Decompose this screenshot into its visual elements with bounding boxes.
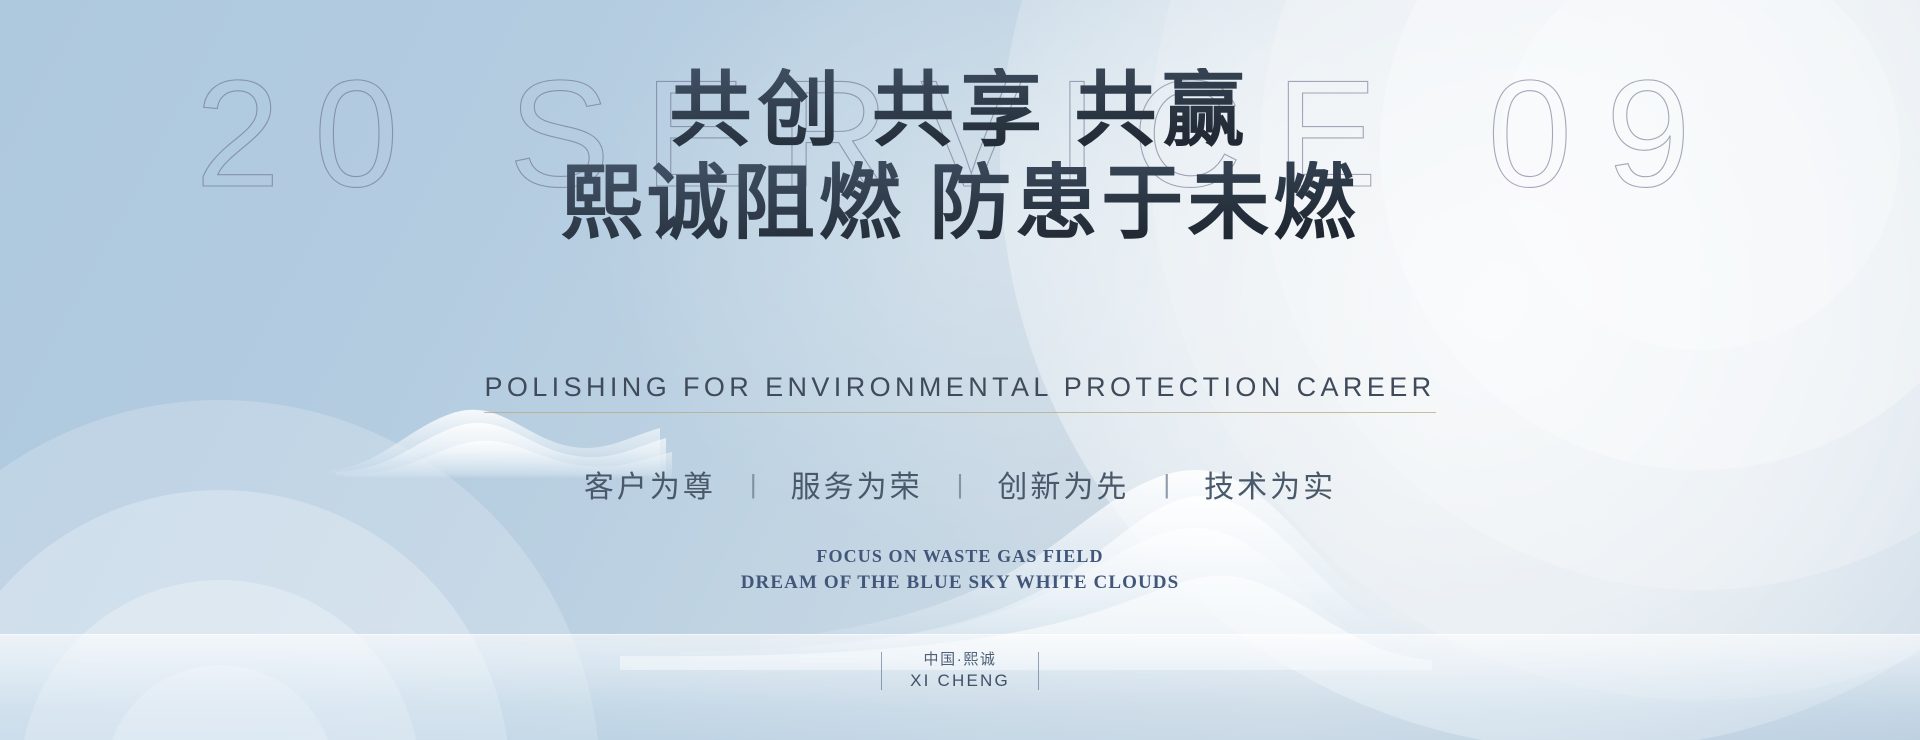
signature-bar-right	[1038, 652, 1040, 690]
signature-bar-left	[881, 652, 883, 690]
english-subtitle: POLISHING FOR ENVIRONMENTAL PROTECTION C…	[484, 372, 1435, 413]
value-item-3: 创新为先	[963, 462, 1163, 506]
signature-text: 中国·熙诚 XI CHENG	[910, 650, 1010, 693]
value-separator-2: |	[957, 469, 964, 500]
tagline-group: FOCUS ON WASTE GAS FIELD DREAM OF THE BL…	[0, 543, 1920, 597]
tagline-line-1: FOCUS ON WASTE GAS FIELD	[0, 543, 1920, 569]
headline-line-1: 共创 共享 共赢	[0, 68, 1920, 155]
value-separator-3: |	[1163, 469, 1170, 500]
value-separator-1: |	[750, 469, 757, 500]
headline-line-2: 熙诚阻燃 防患于未燃	[0, 161, 1920, 248]
value-item-4: 技术为实	[1170, 462, 1370, 506]
brand-signature: 中国·熙诚 XI CHENG	[0, 650, 1920, 693]
headline-group: 共创 共享 共赢 熙诚阻燃 防患于未燃	[0, 68, 1920, 248]
ground-horizon-line	[0, 634, 1920, 635]
subtitle-group: POLISHING FOR ENVIRONMENTAL PROTECTION C…	[0, 372, 1920, 413]
signature-en: XI CHENG	[910, 670, 1010, 693]
values-row: 客户为尊 | 服务为荣 | 创新为先 | 技术为实	[0, 462, 1920, 506]
value-item-2: 服务为荣	[757, 462, 957, 506]
signature-cn: 中国·熙诚	[910, 650, 1010, 670]
value-item-1: 客户为尊	[550, 462, 750, 506]
tagline-line-2: DREAM OF THE BLUE SKY WHITE CLOUDS	[0, 569, 1920, 597]
hero-banner: 20 SERVICE 09	[0, 0, 1920, 740]
